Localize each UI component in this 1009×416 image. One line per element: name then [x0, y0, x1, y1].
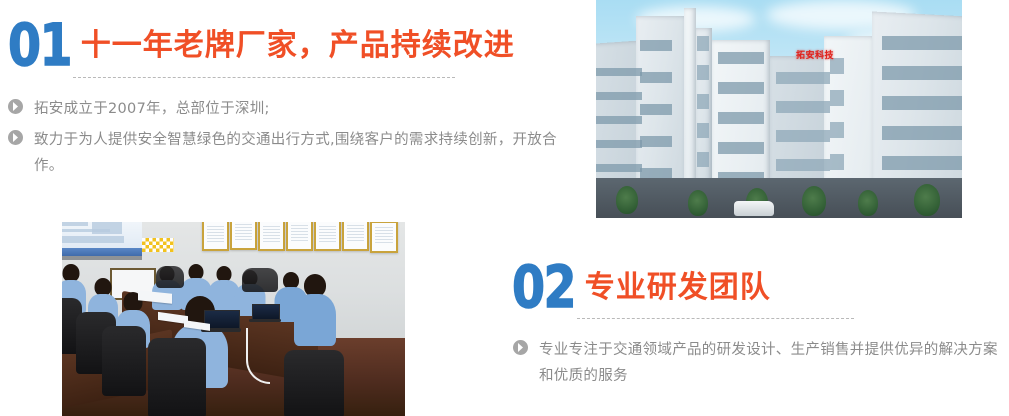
- tree-shape: [802, 186, 826, 216]
- certificate-frame: [370, 222, 398, 253]
- certificate-frame: [314, 222, 341, 251]
- tree-shape: [616, 186, 638, 214]
- window-group: [697, 36, 709, 196]
- tree-shape: [858, 190, 878, 216]
- laptop: [252, 304, 280, 322]
- certificate-frame: [230, 222, 257, 250]
- certificate-frame: [202, 222, 229, 251]
- window-group: [718, 52, 764, 184]
- bullet-text: 致力于为人提供安全智慧绿色的交通出行方式,围绕客户的需求持续创新，开放合作。: [34, 127, 578, 179]
- chevron-right-circle-icon: [8, 130, 23, 145]
- section-02-heading: 02 专业研发团队: [512, 260, 771, 314]
- building-roof-sign: 拓安科技: [796, 48, 834, 61]
- section-01-bullet-1: 拓安成立于2007年，总部位于深圳;: [8, 96, 568, 122]
- certificate-frame: [342, 222, 369, 251]
- section-02-bullet-1: 专业专注于交通领域产品的研发设计、生产销售并提供优异的解决方案和优质的服务: [513, 337, 1001, 389]
- building-photo: 拓安科技: [596, 0, 962, 218]
- section-01-number: 01: [8, 18, 71, 72]
- office-chair: [242, 268, 278, 292]
- office-chair: [102, 326, 146, 396]
- team-member: [294, 274, 336, 344]
- section-01-divider: [73, 77, 455, 78]
- office-chair: [148, 338, 206, 416]
- section-01-title: 十一年老牌厂家，产品持续改进: [81, 31, 515, 61]
- section-02-number: 02: [512, 260, 575, 314]
- section-02-title: 专业研发团队: [585, 273, 771, 303]
- projector-screen: [62, 222, 142, 260]
- company-advantages-page: 拓安科技 01 十一年老牌厂家，产品持续改进 拓安成立于2007年，总部位于深圳…: [0, 0, 1009, 416]
- section-02-divider: [577, 318, 854, 319]
- certificate-frame: [258, 222, 285, 251]
- bullet-text: 专业专注于交通领域产品的研发设计、生产销售并提供优异的解决方案和优质的服务: [539, 337, 1001, 389]
- tree-shape: [914, 184, 940, 216]
- office-chair: [156, 266, 184, 288]
- window-group: [596, 68, 642, 172]
- office-chair: [284, 350, 344, 416]
- section-01-heading: 01 十一年老牌厂家，产品持续改进: [8, 18, 515, 72]
- section-01-bullet-2: 致力于为人提供安全智慧绿色的交通出行方式,围绕客户的需求持续创新，开放合作。: [8, 127, 578, 179]
- bullet-text: 拓安成立于2007年，总部位于深圳;: [34, 96, 270, 122]
- building-base: [596, 178, 962, 218]
- certificate-frame: [286, 222, 313, 251]
- tree-shape: [688, 190, 708, 216]
- team-meeting-photo: [62, 222, 405, 416]
- chevron-right-circle-icon: [513, 340, 528, 355]
- car-shape: [734, 201, 774, 216]
- window-group: [882, 36, 962, 200]
- chevron-right-circle-icon: [8, 99, 23, 114]
- screen-checker-pattern: [142, 238, 174, 252]
